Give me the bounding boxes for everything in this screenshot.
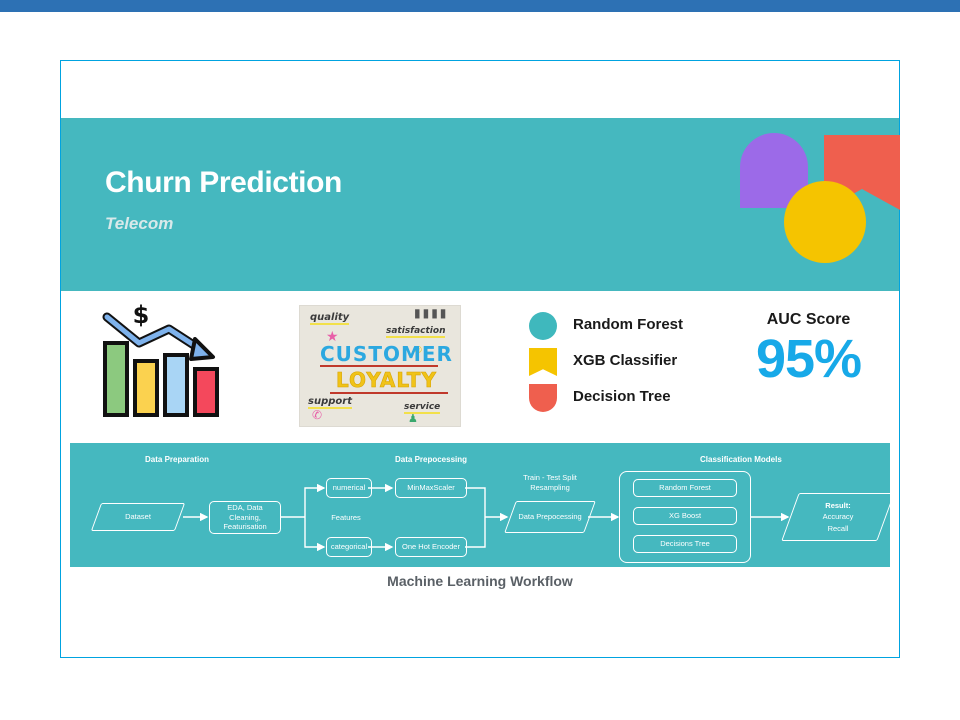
service-person-icon: ♟ <box>408 412 418 425</box>
loyalty-heading-line1: CUSTOMER <box>320 342 453 366</box>
legend-marker-drop-icon <box>529 384 557 412</box>
declining-revenue-bar-chart-icon: $ <box>87 301 242 426</box>
legend-marker-banner-icon <box>529 348 557 376</box>
workflow-label-features: Features <box>318 513 374 523</box>
legend-item-decision-tree: Decision Tree <box>529 381 709 417</box>
legend-item-random-forest: Random Forest <box>529 309 709 345</box>
workflow-section-title-data-preparation: Data Preparation <box>145 455 209 464</box>
workflow-node-one-hot-encoder: One Hot Encoder <box>395 537 467 557</box>
workflow-section-title-classification-models: Classification Models <box>700 455 782 464</box>
loyalty-heading-line2: LOYALTY <box>336 368 437 392</box>
loyalty-note-satisfaction: satisfaction <box>386 326 445 338</box>
workflow-label-train-test-split: Train - Test Split Resampling <box>502 473 598 493</box>
workflow-node-decisions-tree: Decisions Tree <box>633 535 737 553</box>
auc-score-block: AUC Score 95% <box>721 311 896 388</box>
legend-label: Random Forest <box>573 316 683 333</box>
workflow-node-xg-boost: XG Boost <box>633 507 737 525</box>
workflow-caption: Machine Learning Workflow <box>61 573 899 589</box>
window-accent-bar <box>0 0 960 12</box>
workflow-node-dataset: Dataset <box>96 503 180 531</box>
workflow-node-random-forest: Random Forest <box>633 479 737 497</box>
whiteboard-clips-icon: ▮▮▮▮ <box>414 306 448 320</box>
workflow-node-result: Result: Accuracy Recall <box>790 493 886 541</box>
machine-learning-workflow-diagram: Data Preparation Data Prepocessing Class… <box>70 443 890 567</box>
model-legend: Random Forest XGB Classifier Decision Tr… <box>529 309 709 417</box>
loyalty-note-quality: quality <box>310 312 349 325</box>
workflow-node-data-preprocessing: Data Prepocessing <box>510 501 590 533</box>
legend-label: Decision Tree <box>573 388 671 405</box>
auc-score-title: AUC Score <box>721 311 896 329</box>
workflow-node-numerical: numerical <box>326 478 372 498</box>
workflow-section-title-data-preprocessing: Data Prepocessing <box>395 455 467 464</box>
content-row: $ ▮▮▮▮ quality ★ satisfaction ☺ CUSTOMER… <box>61 291 899 441</box>
slide-root: Churn Prediction Telecom $ ▮▮▮▮ quality <box>0 0 960 720</box>
loyalty-underline-1 <box>320 365 438 367</box>
workflow-node-minmaxscaler: MinMaxScaler <box>395 478 467 498</box>
workflow-node-eda: EDA, Data Cleaning, Featurisation <box>209 501 281 534</box>
phone-icon: ✆ <box>312 408 322 422</box>
legend-marker-circle-icon <box>529 312 557 340</box>
loyalty-underline-2 <box>330 392 448 394</box>
slide-frame: Churn Prediction Telecom $ ▮▮▮▮ quality <box>60 60 900 658</box>
workflow-node-categorical: categorical <box>326 537 372 557</box>
customer-loyalty-whiteboard-image: ▮▮▮▮ quality ★ satisfaction ☺ CUSTOMER L… <box>299 305 461 427</box>
circle-decoration-shape <box>784 181 866 263</box>
svg-text:$: $ <box>133 301 150 329</box>
page-subtitle: Telecom <box>105 214 173 234</box>
title-band: Churn Prediction Telecom <box>61 118 899 291</box>
legend-label: XGB Classifier <box>573 352 677 369</box>
auc-score-value: 95% <box>721 331 896 388</box>
page-title: Churn Prediction <box>105 166 342 200</box>
legend-item-xgb-classifier: XGB Classifier <box>529 345 709 381</box>
